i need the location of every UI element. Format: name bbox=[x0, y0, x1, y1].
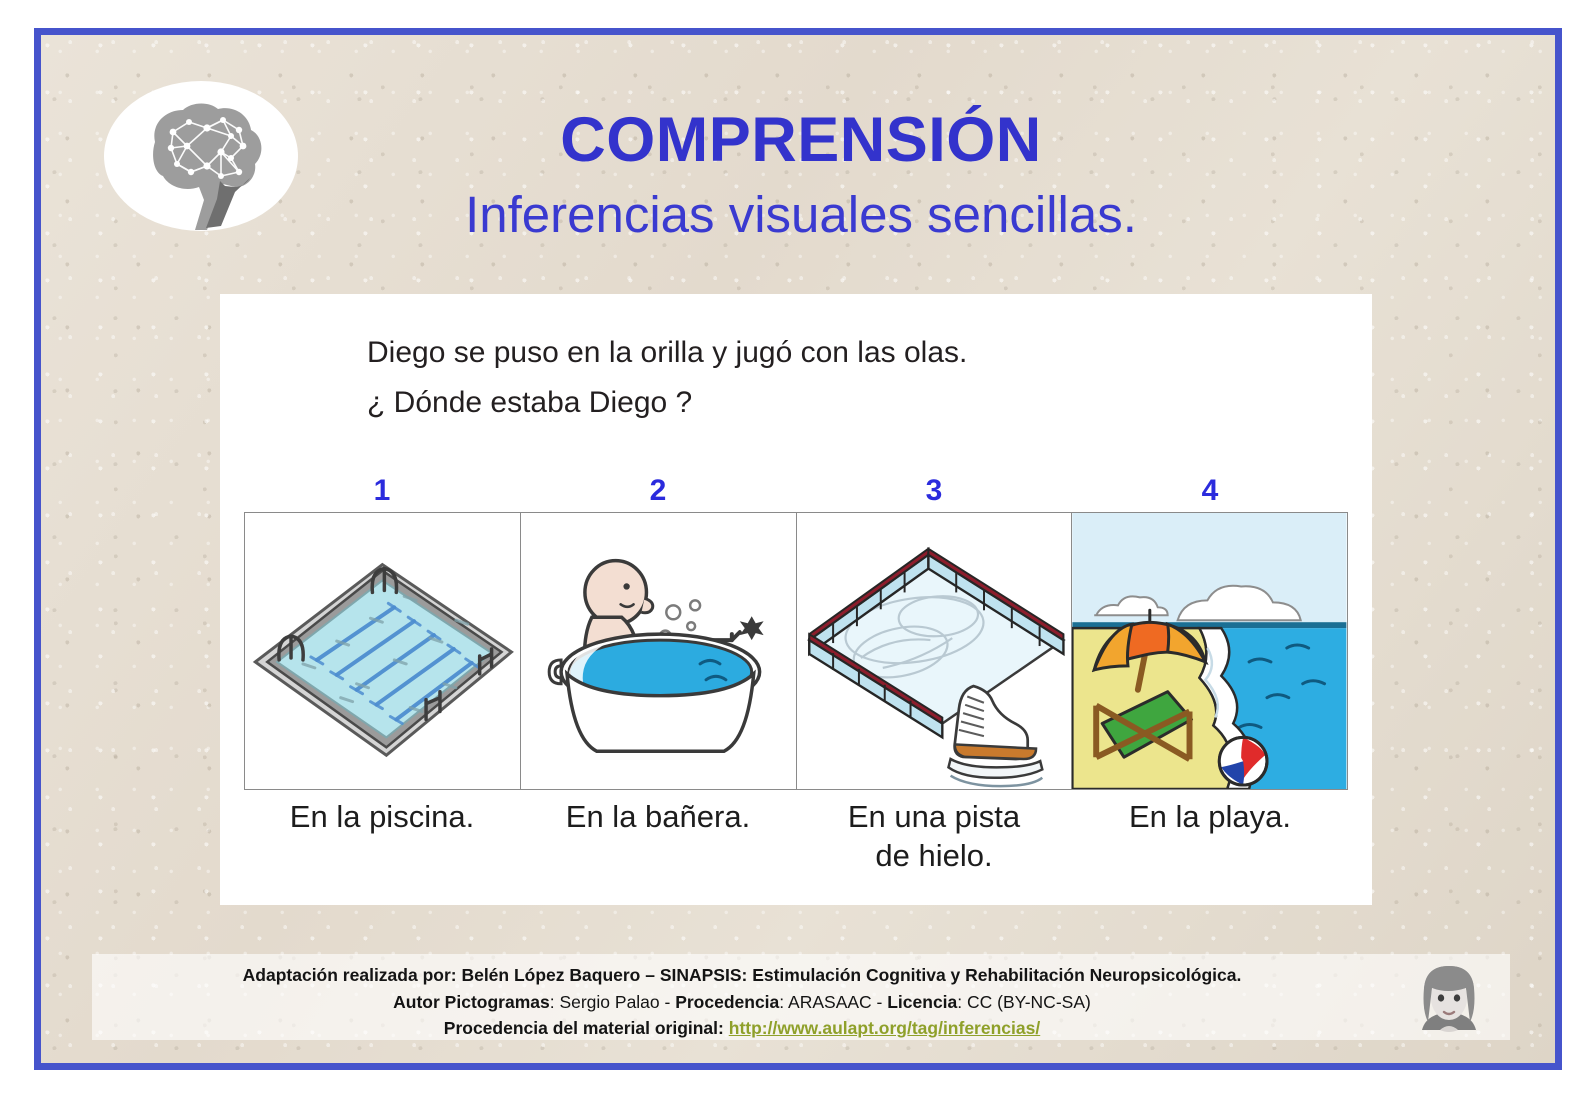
option-caption-3: En una pista de hielo. bbox=[796, 798, 1072, 876]
footer-credits: Adaptación realizada por: Belén López Ba… bbox=[92, 954, 1510, 1040]
option-number-4: 4 bbox=[1072, 474, 1348, 508]
question-text: ¿ Dónde estaba Diego ? bbox=[367, 378, 1267, 428]
option-caption-3-line1: En una pista bbox=[848, 799, 1020, 834]
page-subtitle: Inferencias visuales sencillas. bbox=[211, 187, 1391, 243]
author-avatar bbox=[1410, 958, 1488, 1038]
option-caption-3-line2: de hielo. bbox=[875, 838, 992, 873]
option-image-piscina[interactable] bbox=[245, 513, 521, 789]
footer-source-label: Procedencia bbox=[675, 992, 779, 1012]
footer-author-value: : Sergio Palao - bbox=[550, 992, 675, 1012]
page-title: COMPRENSIÓN bbox=[211, 107, 1391, 173]
option-caption-4: En la playa. bbox=[1072, 798, 1348, 876]
option-captions-row: En la piscina. En la bañera. En una pist… bbox=[244, 798, 1348, 876]
footer-origin-label: Procedencia del material original: bbox=[444, 1018, 724, 1038]
option-number-3: 3 bbox=[796, 474, 1072, 508]
footer-license-value: : CC (BY-NC-SA) bbox=[957, 992, 1091, 1012]
statement-text: Diego se puso en la orilla y jugó con la… bbox=[367, 328, 1267, 378]
footer-license-label: Licencia bbox=[887, 992, 957, 1012]
exercise-prompt: Diego se puso en la orilla y jugó con la… bbox=[367, 328, 1267, 427]
option-images-grid bbox=[244, 512, 1348, 790]
option-number-1: 1 bbox=[244, 474, 520, 508]
option-caption-1: En la piscina. bbox=[244, 798, 520, 876]
option-image-playa[interactable] bbox=[1072, 513, 1347, 789]
option-caption-2: En la bañera. bbox=[520, 798, 796, 876]
footer-source-value: : ARASAAC - bbox=[779, 992, 887, 1012]
option-number-2: 2 bbox=[520, 474, 796, 508]
footer-line-pictograms: Autor Pictogramas: Sergio Palao - Proced… bbox=[92, 989, 1392, 1016]
title-block: COMPRENSIÓN Inferencias visuales sencill… bbox=[211, 107, 1391, 243]
option-numbers-row: 1 2 3 4 bbox=[244, 474, 1348, 508]
option-image-banera[interactable] bbox=[521, 513, 797, 789]
slide-frame: COMPRENSIÓN Inferencias visuales sencill… bbox=[34, 28, 1562, 1070]
footer-origin-link[interactable]: http://www.aulapt.org/tag/inferencias/ bbox=[729, 1018, 1040, 1038]
footer-text-block: Adaptación realizada por: Belén López Ba… bbox=[92, 962, 1392, 1042]
footer-author-label: Autor Pictogramas bbox=[393, 992, 550, 1012]
footer-line-adaptation: Adaptación realizada por: Belén López Ba… bbox=[92, 962, 1392, 989]
exercise-card: Diego se puso en la orilla y jugó con la… bbox=[220, 294, 1372, 905]
option-image-pista-hielo[interactable] bbox=[797, 513, 1073, 789]
footer-line-origin: Procedencia del material original: http:… bbox=[92, 1015, 1392, 1042]
